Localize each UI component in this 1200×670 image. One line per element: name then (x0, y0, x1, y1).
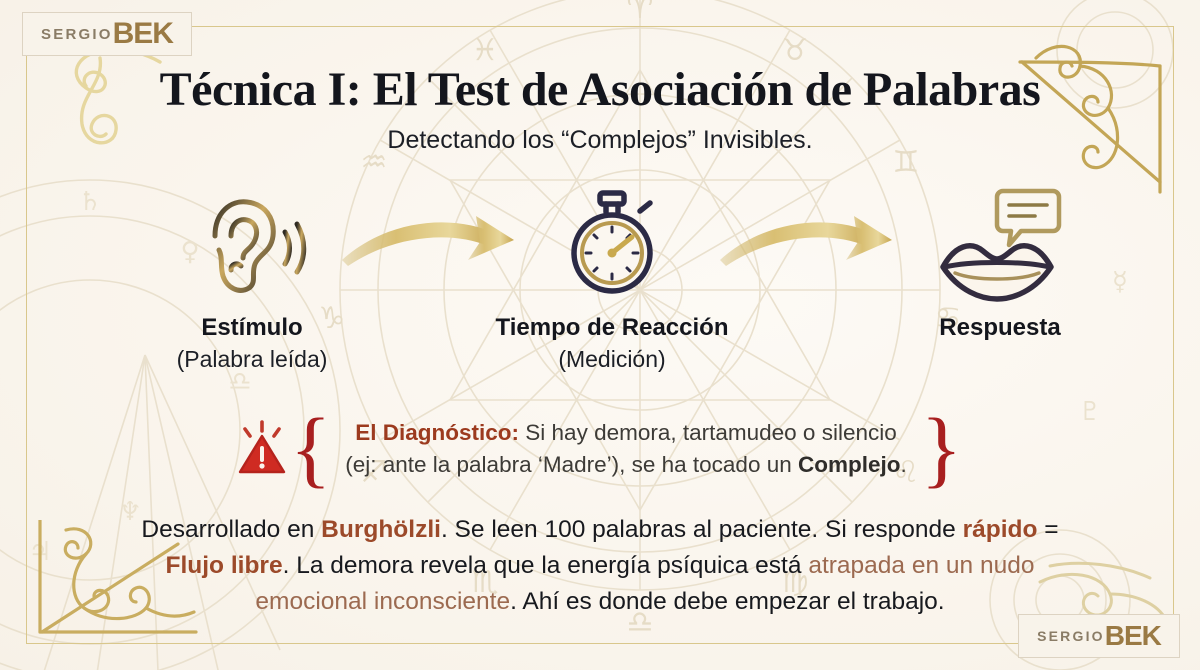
para-keyword-rapido: rápido (963, 516, 1038, 543)
para-seg-3: = (1037, 516, 1058, 543)
flow-step-label: Tiempo de Reacción (462, 314, 762, 342)
para-keyword-burgholzli: Burghölzli (321, 516, 441, 543)
diagnostic-line2-end: . (901, 452, 907, 477)
flow-step-label: Estímulo (102, 314, 402, 342)
flow-step-sublabel: (Palabra leída) (102, 346, 402, 373)
page-subtitle: Detectando los “Complejos” Invisibles. (0, 126, 1200, 155)
svg-text:♃: ♃ (28, 537, 51, 567)
page-title: Técnica I: El Test de Asociación de Pala… (0, 62, 1200, 117)
diagnostic-line1-rest: Si hay demora, tartamudeo o silencio (519, 420, 897, 445)
corner-ornament-top-right (1010, 32, 1180, 202)
svg-text:♈: ♈ (627, 0, 654, 26)
speech-bubble-icon (997, 191, 1059, 245)
brand-logo-top[interactable]: SERGIO BEK (22, 12, 192, 56)
logo-prefix: SERGIO (1037, 628, 1105, 644)
para-keyword-flujo-libre: Flujo libre (166, 552, 283, 579)
diagnostic-strong: El Diagnóstico: (355, 420, 519, 445)
brand-logo-bottom[interactable]: SERGIO BEK (1018, 614, 1180, 658)
flow-step-sublabel: (Medición) (462, 346, 762, 373)
logo-suffix: BEK (113, 17, 173, 51)
diagnostic-text: El Diagnóstico: Si hay demora, tartamude… (331, 417, 921, 481)
warning-triangle-icon (238, 420, 286, 479)
lips-speech-icon (850, 190, 1150, 300)
lips-icon (943, 246, 1051, 299)
summary-paragraph: Desarrollado en Burghölzli. Se leen 100 … (110, 512, 1090, 619)
flow-step-response: Respuesta (850, 190, 1150, 346)
para-seg-5: . Ahí es donde debe empezar el trabajo. (510, 588, 945, 615)
logo-prefix: SERGIO (41, 26, 113, 43)
flow-step-label: Respuesta (850, 314, 1150, 342)
brace-open: { (290, 418, 331, 480)
para-seg-2: . Se leen 100 palabras al paciente. Si r… (441, 516, 963, 543)
infographic-canvas: ♈ ♉ ♊ ♋ ♌ ♍ ♎ ♏ ♐ ♑ ♒ ♓ ♄ ♑ ♒ ♃ ♀ ♎ ♆ (0, 0, 1200, 670)
diagnostic-line2-start: (ej: ante la palabra ‘Madre’), se ha toc… (345, 452, 798, 477)
brace-close: } (921, 418, 962, 480)
para-seg-4: . La demora revela que la energía psíqui… (283, 552, 809, 579)
diagnostic-callout: { El Diagnóstico: Si hay demora, tartamu… (0, 404, 1200, 494)
logo-suffix: BEK (1105, 620, 1161, 652)
para-seg-1: Desarrollado en (141, 516, 321, 543)
process-flow: Estímulo (Palabra leída) (26, 190, 1174, 390)
diagnostic-keyword: Complejo (798, 452, 901, 477)
